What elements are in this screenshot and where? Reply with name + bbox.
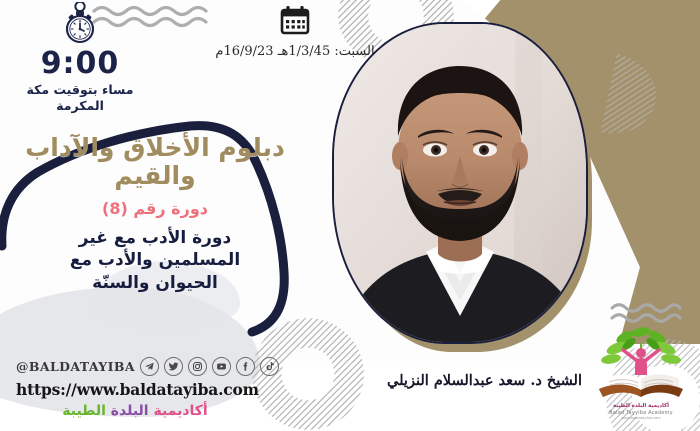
instagram-icon[interactable] <box>188 357 207 376</box>
social-handle-row: @BALDATAYIBA <box>16 357 316 376</box>
footer-block: @BALDATAYIBA <box>16 357 316 419</box>
event-timezone-line2: المكرمة <box>14 98 146 114</box>
academy-logo-icon <box>593 323 689 403</box>
poster-title-line1: دبلوم الأخلاق والآداب <box>6 134 304 162</box>
academy-name-part2: البلدة <box>111 403 149 419</box>
course-number-badge: دورة رقم (8) <box>6 199 304 218</box>
tiktok-icon[interactable] <box>260 357 279 376</box>
telegram-icon[interactable] <box>140 357 159 376</box>
title-block: دبلوم الأخلاق والآداب والقيم دورة رقم (8… <box>6 134 304 294</box>
event-time: 9:00 <box>14 49 146 79</box>
time-block: 9:00 مساء بتوقيت مكة المكرمة <box>14 2 146 113</box>
academy-name-arabic: أكاديمية البلدة الطيبة <box>16 403 254 419</box>
academy-name-part1: أكاديمية <box>153 403 207 419</box>
logo-url: www.baldatayiba.com <box>590 416 692 420</box>
poster-subtitle-line1: دورة الأدب مع غير <box>6 227 304 249</box>
twitter-icon[interactable] <box>164 357 183 376</box>
poster-title-line2: والقيم <box>6 162 304 190</box>
speaker-name: الشيخ د. سعد عبدالسلام النزيلي <box>387 372 582 389</box>
stopwatch-icon <box>60 2 100 46</box>
event-timezone-line1: مساء بتوقيت مكة <box>14 82 146 98</box>
event-poster: 9:00 مساء بتوقيت مكة المكرمة السبت: 1/3/ <box>0 0 700 431</box>
facebook-icon[interactable] <box>236 357 255 376</box>
youtube-icon[interactable] <box>212 357 231 376</box>
website-url[interactable]: https://www.baldatayiba.com <box>16 380 316 399</box>
calendar-icon <box>279 4 311 36</box>
speaker-photo <box>332 22 588 344</box>
logo-name-arabic: أكاديمية البلدة الطيبة <box>590 403 692 410</box>
social-handle: @BALDATAYIBA <box>16 359 135 374</box>
poster-subtitle-line2: المسلمين والأدب مع <box>6 249 304 271</box>
academy-name-part3: الطيبة <box>62 403 106 419</box>
speaker-portrait <box>318 14 618 364</box>
academy-logo: أكاديمية البلدة الطيبة Balad Tayyiba Aca… <box>590 323 692 427</box>
poster-subtitle-line3: الحيوان والسنّة <box>6 272 304 294</box>
